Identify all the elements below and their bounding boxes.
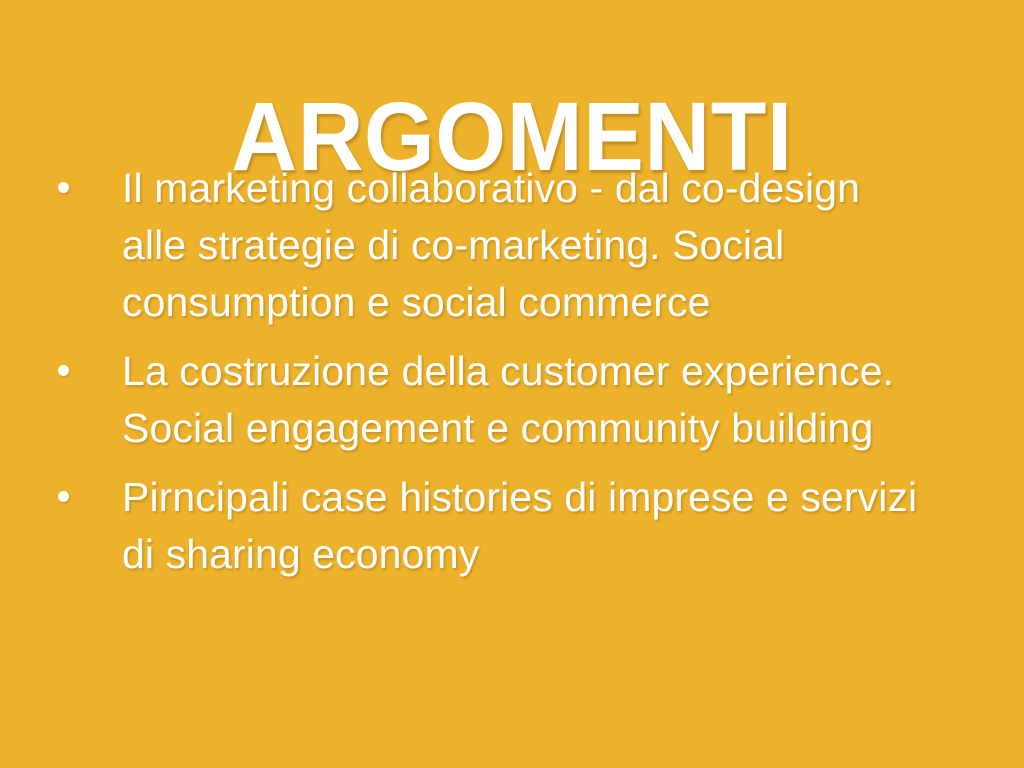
- list-item: bullet-dot Il marketing collaborativo - …: [50, 160, 930, 331]
- bullet-dot-icon: bullet-dot: [58, 365, 69, 376]
- list-item: bullet-dot La costruzione della customer…: [50, 343, 930, 457]
- list-item-text: La costruzione della customer experience…: [122, 343, 930, 457]
- bullet-dot-icon: bullet-dot: [58, 491, 69, 502]
- list-item-text: Il marketing collaborativo - dal co-desi…: [122, 160, 930, 331]
- presentation-slide: ARGOMENTI bullet-dot Il marketing collab…: [0, 0, 1024, 768]
- bullet-list: bullet-dot Il marketing collaborativo - …: [50, 160, 930, 583]
- bullet-dot-icon: bullet-dot: [58, 182, 69, 193]
- list-item: bullet-dot Pirncipali case histories di …: [50, 469, 930, 583]
- list-item-text: Pirncipali case histories di imprese e s…: [122, 469, 930, 583]
